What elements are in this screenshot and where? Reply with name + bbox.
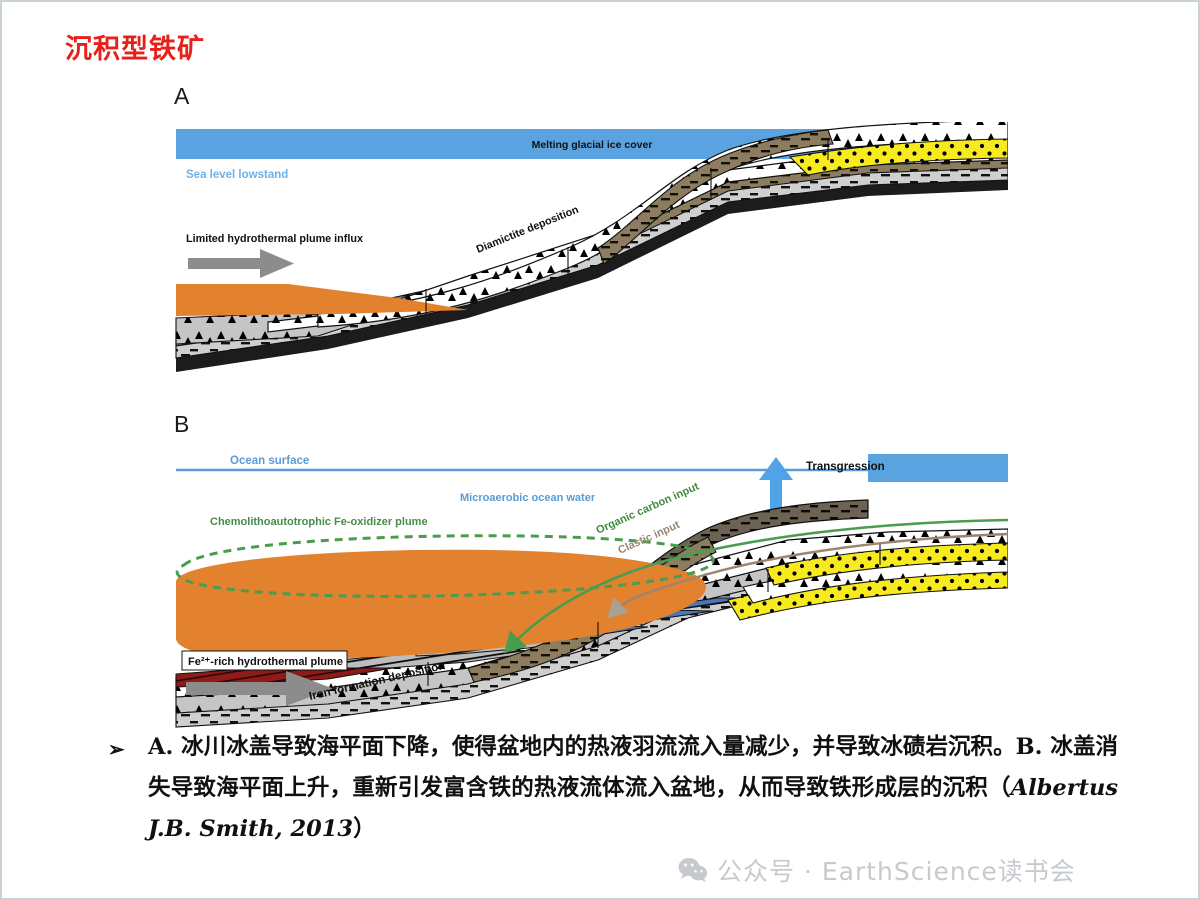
panel-a: A Melting glacial ice cover Sea level lo… (174, 83, 1008, 372)
watermark: 公众号 · EarthScience读书会 (678, 852, 1076, 888)
caption-text: A. 冰川冰盖导致海平面下降，使得盆地内的热液羽流流入量减少，并导致冰碛岩沉积。… (148, 727, 1118, 850)
fe-oxidizer-plume-label: Chemolithoautotrophic Fe-oxidizer plume (210, 516, 428, 528)
panel-b-label: B (174, 411, 189, 437)
geological-cross-section-figure: A Melting glacial ice cover Sea level lo… (168, 82, 1008, 732)
basement-dark-layer-2 (176, 180, 1008, 372)
figure-container: A Melting glacial ice cover Sea level lo… (168, 82, 1008, 732)
caption-bullet: ➢ (108, 729, 125, 770)
panel-a-label: A (174, 83, 190, 109)
page-title: 沉积型铁矿 (65, 27, 205, 66)
caption-text-part2: ） (353, 816, 376, 842)
organic-carbon-input-label: Organic carbon input (594, 480, 701, 536)
ocean-surface-label: Ocean surface (230, 455, 309, 467)
hydrothermal-arrow-a (188, 249, 294, 278)
watermark-text: 公众号 · EarthScience读书会 (717, 852, 1076, 888)
ice-cover-label: Melting glacial ice cover (532, 139, 653, 151)
transgression-label: Transgression (806, 461, 885, 473)
microaerobic-ocean-water-label: Microaerobic ocean water (460, 492, 596, 504)
caption: ➢ A. 冰川冰盖导致海平面下降，使得盆地内的热液羽流流入量减少，并导致冰碛岩沉… (108, 727, 1118, 850)
sea-level-lowstand-label: Sea level lowstand (186, 169, 288, 181)
panel-b: B Ocean surface Transgression Microaerob… (174, 411, 1008, 727)
wechat-icon (678, 857, 708, 883)
limited-plume-influx-label: Limited hydrothermal plume influx (186, 233, 363, 245)
hydrothermal-plume-label-b: Fe²⁺-rich hydrothermal plume (188, 656, 343, 668)
transgression-block (868, 454, 1008, 482)
caption-text-part1: A. 冰川冰盖导致海平面下降，使得盆地内的热液羽流流入量减少，并导致冰碛岩沉积。… (148, 734, 1118, 801)
